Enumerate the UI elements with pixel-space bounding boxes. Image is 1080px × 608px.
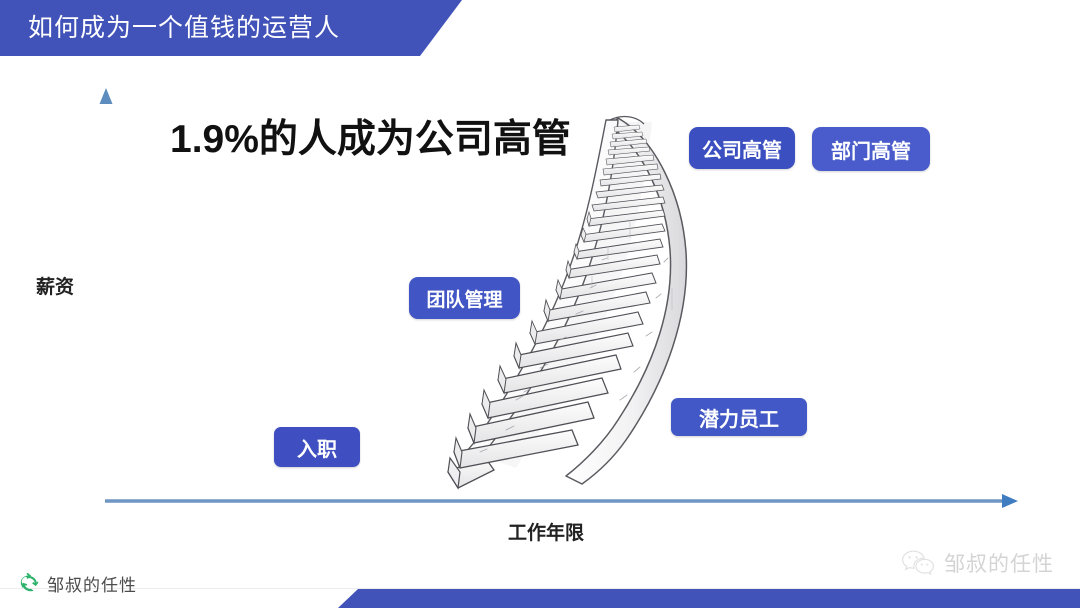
x-axis-label: 工作年限	[508, 518, 584, 545]
watermark-text: 邹叔的任性	[944, 548, 1054, 578]
footer-divider	[0, 588, 1080, 589]
slide-canvas: 如何成为一个值钱的运营人 薪资 工作年限 1.9%的人成为公司高管	[0, 0, 1080, 608]
tag-team-management[interactable]: 团队管理	[409, 277, 520, 319]
recycle-green-icon	[18, 573, 40, 595]
wechat-watermark: 邹叔的任性	[901, 548, 1054, 578]
tag-onboarding[interactable]: 入职	[274, 427, 360, 467]
wechat-icon	[901, 550, 935, 576]
page-title: 如何成为一个值钱的运营人	[28, 10, 340, 46]
tag-potential-staff[interactable]: 潜力员工	[671, 398, 807, 436]
footer-brand-text: 邹叔的任性	[47, 571, 137, 596]
y-axis-label: 薪资	[36, 272, 74, 299]
footer-bar	[0, 589, 1080, 608]
footer-brand: 邹叔的任性	[18, 571, 137, 596]
tag-dept-exec[interactable]: 部门高管	[812, 127, 930, 171]
tag-company-exec[interactable]: 公司高管	[689, 127, 795, 169]
